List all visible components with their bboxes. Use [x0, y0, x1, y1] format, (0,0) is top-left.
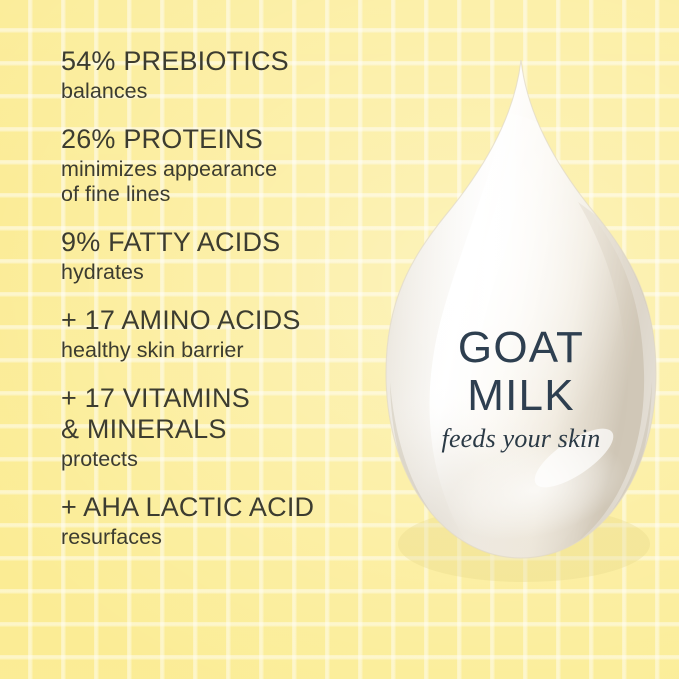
ingredient-headline: 9% FATTY ACIDS	[61, 227, 381, 258]
ingredient-benefit: minimizes appearance of fine lines	[61, 157, 381, 207]
ingredient-benefit: balances	[61, 79, 381, 104]
ingredient-item-proteins: 26% PROTEINS minimizes appearance of fin…	[61, 124, 381, 207]
ingredient-benefit: healthy skin barrier	[61, 338, 381, 363]
ingredient-item-prebiotics: 54% PREBIOTICS balances	[61, 46, 381, 104]
ingredient-benefit: protects	[61, 447, 381, 472]
ingredient-benefit: resurfaces	[61, 525, 381, 550]
ingredient-headline: 26% PROTEINS	[61, 124, 381, 155]
ingredient-headline: 54% PREBIOTICS	[61, 46, 381, 77]
ingredient-headline: + 17 AMINO ACIDS	[61, 305, 381, 336]
ingredient-headline: + AHA LACTIC ACID	[61, 492, 381, 523]
ingredient-item-fatty-acids: 9% FATTY ACIDS hydrates	[61, 227, 381, 285]
ingredient-list: 54% PREBIOTICS balances 26% PROTEINS min…	[61, 46, 381, 550]
ingredient-benefit: hydrates	[61, 260, 381, 285]
ingredient-item-amino-acids: + 17 AMINO ACIDS healthy skin barrier	[61, 305, 381, 363]
ingredient-headline: + 17 VITAMINS & MINERALS	[61, 383, 381, 445]
goat-milk-ingredient-infographic: 54% PREBIOTICS balances 26% PROTEINS min…	[0, 0, 679, 679]
milk-droplet-graphic: GOAT MILK feeds your skin	[378, 52, 664, 568]
ingredient-item-aha-lactic-acid: + AHA LACTIC ACID resurfaces	[61, 492, 381, 550]
ingredient-item-vitamins-minerals: + 17 VITAMINS & MINERALS protects	[61, 383, 381, 472]
droplet-icon	[378, 52, 664, 568]
